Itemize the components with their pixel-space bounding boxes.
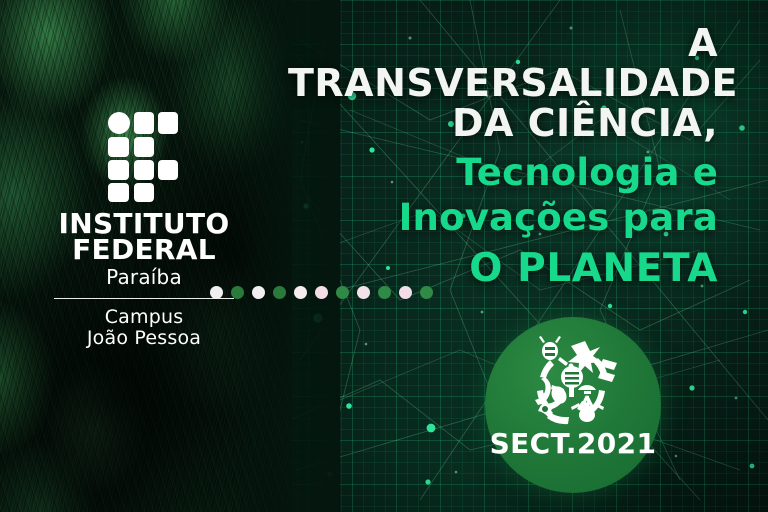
strip-dot-4 xyxy=(273,286,286,299)
science-symbols-cluster-icon xyxy=(515,333,631,433)
strip-dot-3 xyxy=(252,286,265,299)
headline-line-2: DA CIÊNCIA, xyxy=(288,104,718,144)
campus-block: Campus João Pessoa xyxy=(48,307,240,350)
institution-name-block: INSTITUTO FEDERAL xyxy=(48,211,240,263)
sect-event-badge: SECT.2021 xyxy=(485,317,661,493)
headline-line-4: Inovações para xyxy=(288,195,718,240)
headline-line-5: O PLANETA xyxy=(288,245,718,293)
strip-dot-2 xyxy=(231,286,244,299)
headline-line-1: A TRANSVERSALIDADE xyxy=(288,24,718,104)
campus-name: João Pessoa xyxy=(48,328,240,349)
sect-badge-label: SECT.2021 xyxy=(485,427,661,460)
poster-canvas: INSTITUTO FEDERAL Paraíba Campus João Pe… xyxy=(0,0,768,512)
institution-name-line2: FEDERAL xyxy=(48,237,240,263)
headline-block: A TRANSVERSALIDADE DA CIÊNCIA, Tecnologi… xyxy=(288,24,718,293)
ifpb-grid-logo-icon xyxy=(108,112,180,202)
campus-label: Campus xyxy=(48,307,240,328)
lockup-divider xyxy=(54,298,234,299)
strip-dot-1 xyxy=(210,286,223,299)
headline-line-3: Tecnologia e xyxy=(288,150,718,195)
institution-state: Paraíba xyxy=(48,265,240,289)
ifpb-logo-lockup: INSTITUTO FEDERAL Paraíba Campus João Pe… xyxy=(48,112,240,349)
